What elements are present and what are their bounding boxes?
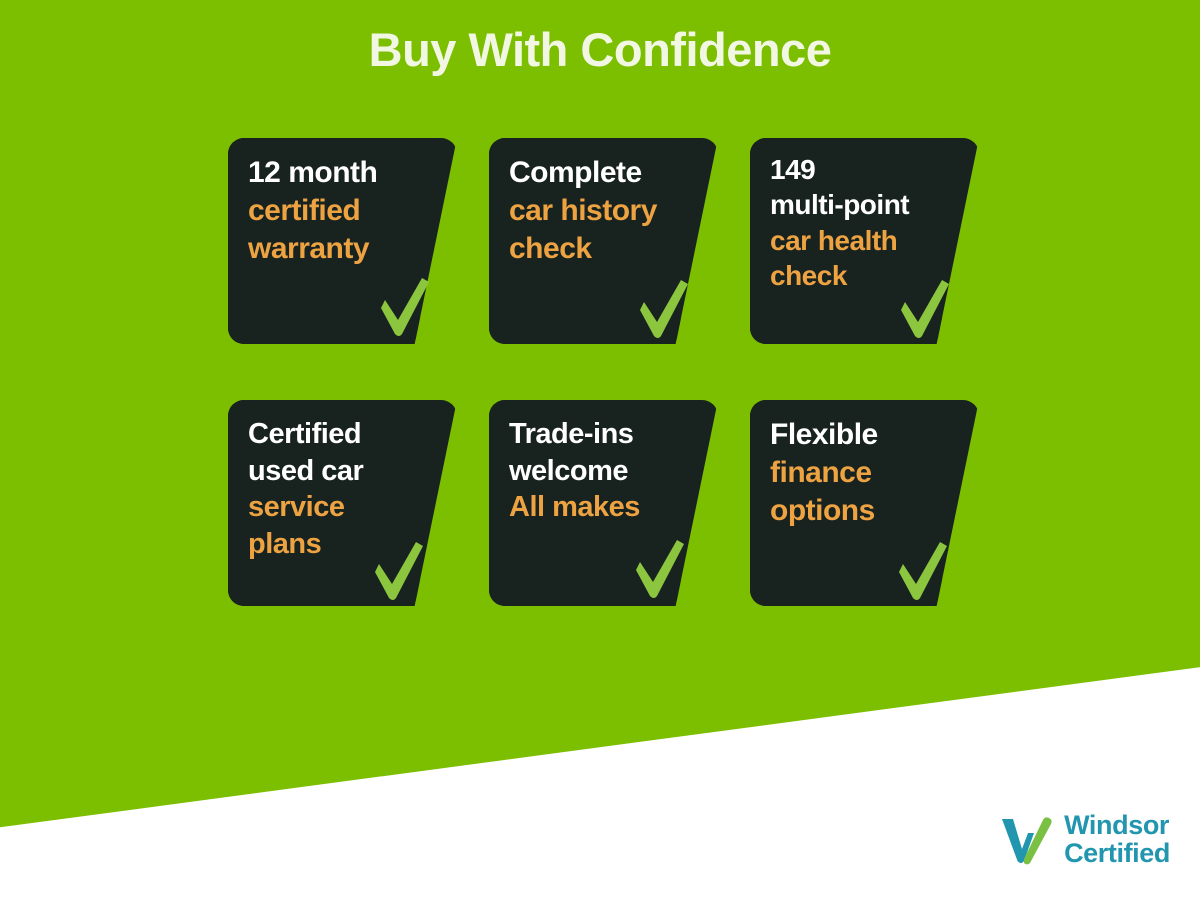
check-mark-icon bbox=[634, 276, 692, 340]
card-line-orange: check bbox=[509, 230, 672, 268]
card-line-white: Trade-ins bbox=[509, 416, 672, 453]
benefit-card-certified-used-car-service-plans[interactable]: Certified used car service plans bbox=[228, 400, 457, 606]
card-line-orange: options bbox=[770, 492, 933, 530]
logo-wordmark: Windsor Certified bbox=[1064, 811, 1170, 868]
card-text: 12 month certified warranty bbox=[248, 154, 411, 267]
card-line-orange: warranty bbox=[248, 230, 411, 268]
benefit-card-grid: 12 month certified warranty Complete car… bbox=[228, 138, 980, 606]
card-line-orange: certified bbox=[248, 192, 411, 230]
card-text: 149 multi-point car health check bbox=[770, 152, 933, 293]
benefit-card-flexible-finance-options[interactable]: Flexible finance options bbox=[750, 400, 979, 606]
check-mark-icon bbox=[893, 538, 951, 602]
benefit-card-complete-car-history-check[interactable]: Complete car history check bbox=[489, 138, 718, 344]
brand-logo[interactable]: Windsor Certified bbox=[998, 811, 1170, 868]
card-line-white: 12 month bbox=[248, 154, 411, 192]
windsor-w-checkmark-icon bbox=[998, 813, 1054, 865]
card-line-white: multi-point bbox=[770, 187, 933, 222]
card-line-orange: service bbox=[248, 489, 411, 526]
check-mark-icon bbox=[369, 538, 427, 602]
benefit-card-149-multi-point-car-health-check[interactable]: 149 multi-point car health check bbox=[750, 138, 979, 344]
card-line-white: 149 bbox=[770, 152, 933, 187]
card-line-white: Flexible bbox=[770, 416, 933, 454]
card-text: Trade-ins welcome All makes bbox=[509, 416, 672, 526]
card-line-white: Certified bbox=[248, 416, 411, 453]
poster-canvas: Buy With Confidence 12 month certified w… bbox=[0, 0, 1200, 900]
card-line-orange: All makes bbox=[509, 489, 672, 526]
logo-line-1: Windsor bbox=[1064, 811, 1170, 840]
card-line-white: welcome bbox=[509, 453, 672, 490]
check-mark-icon bbox=[895, 276, 953, 340]
card-line-orange: car health bbox=[770, 223, 933, 258]
card-line-white: used car bbox=[248, 453, 411, 490]
card-line-white: Complete bbox=[509, 154, 672, 192]
benefit-card-trade-ins-welcome-all-makes[interactable]: Trade-ins welcome All makes bbox=[489, 400, 718, 606]
check-mark-icon bbox=[630, 536, 688, 600]
check-mark-icon bbox=[375, 274, 433, 338]
card-line-orange: car history bbox=[509, 192, 672, 230]
logo-line-2: Certified bbox=[1064, 839, 1170, 868]
card-text: Flexible finance options bbox=[770, 416, 933, 529]
card-text: Complete car history check bbox=[509, 154, 672, 267]
benefit-card-12-month-certified-warranty[interactable]: 12 month certified warranty bbox=[228, 138, 457, 344]
card-line-orange: finance bbox=[770, 454, 933, 492]
page-title: Buy With Confidence bbox=[0, 24, 1200, 76]
